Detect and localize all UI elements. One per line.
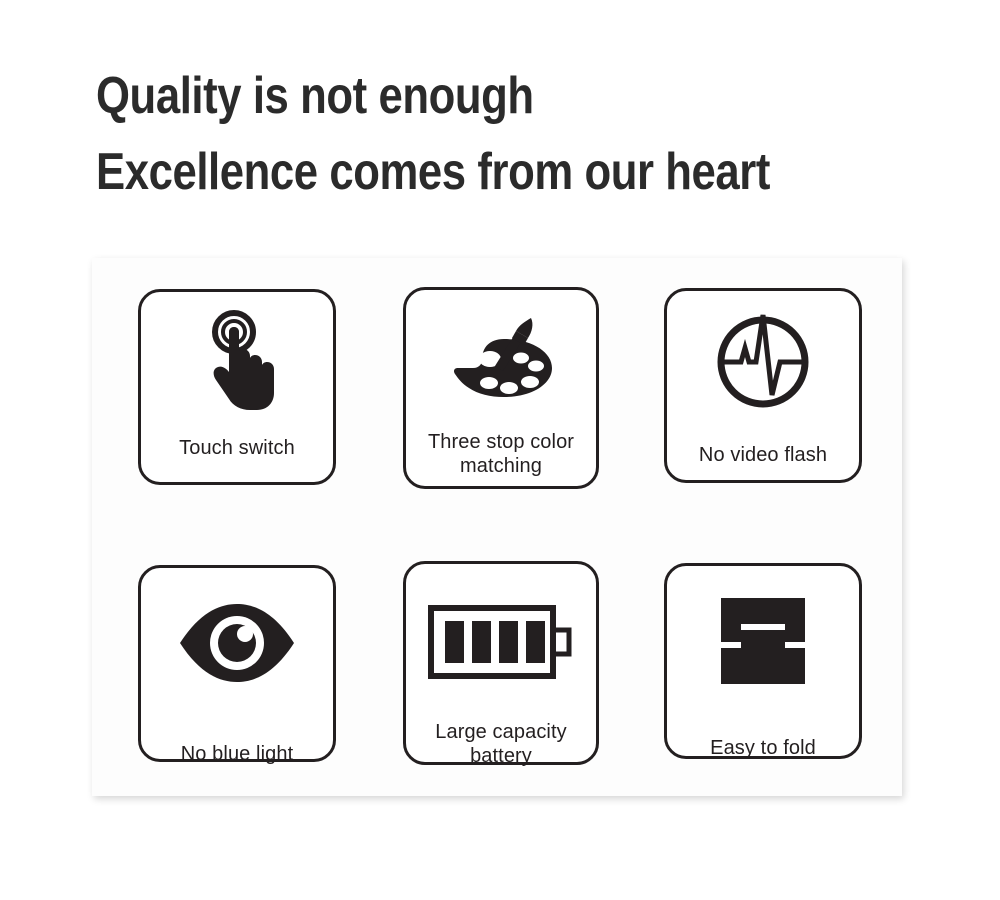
headline-line-1: Quality is not enough: [96, 58, 818, 134]
feature-grid: Touch switch: [92, 258, 902, 796]
feature-label: No blue light: [175, 742, 299, 766]
headline-line-2: Excellence comes from our heart: [96, 134, 818, 210]
headline-block: Quality is not enough Excellence comes f…: [96, 58, 956, 210]
feature-card-no-blue-light[interactable]: No blue light: [138, 565, 336, 762]
waveform-circle-icon: [708, 307, 818, 413]
feature-label: Three stop color matching: [422, 430, 580, 478]
feature-label: Large capacity battery: [429, 720, 572, 768]
feature-card-easy-to-fold[interactable]: Easy to fold: [664, 563, 862, 759]
feature-panel: Touch switch: [92, 258, 902, 796]
touch-hand-tap-icon: [191, 310, 283, 414]
feature-label: Touch switch: [173, 436, 301, 460]
feature-card-large-capacity-battery[interactable]: Large capacity battery: [403, 561, 599, 765]
feature-card-three-stop-color-matching[interactable]: Three stop color matching: [403, 287, 599, 489]
feature-card-no-video-flash[interactable]: No video flash: [664, 288, 862, 483]
feature-label: Easy to fold: [704, 736, 822, 760]
feature-card-touch-switch[interactable]: Touch switch: [138, 289, 336, 485]
fold-panels-icon: [715, 594, 811, 688]
battery-full-icon: [427, 594, 575, 690]
feature-label: No video flash: [693, 443, 833, 467]
eye-icon: [176, 600, 298, 686]
paint-palette-brush-icon: [446, 314, 556, 412]
